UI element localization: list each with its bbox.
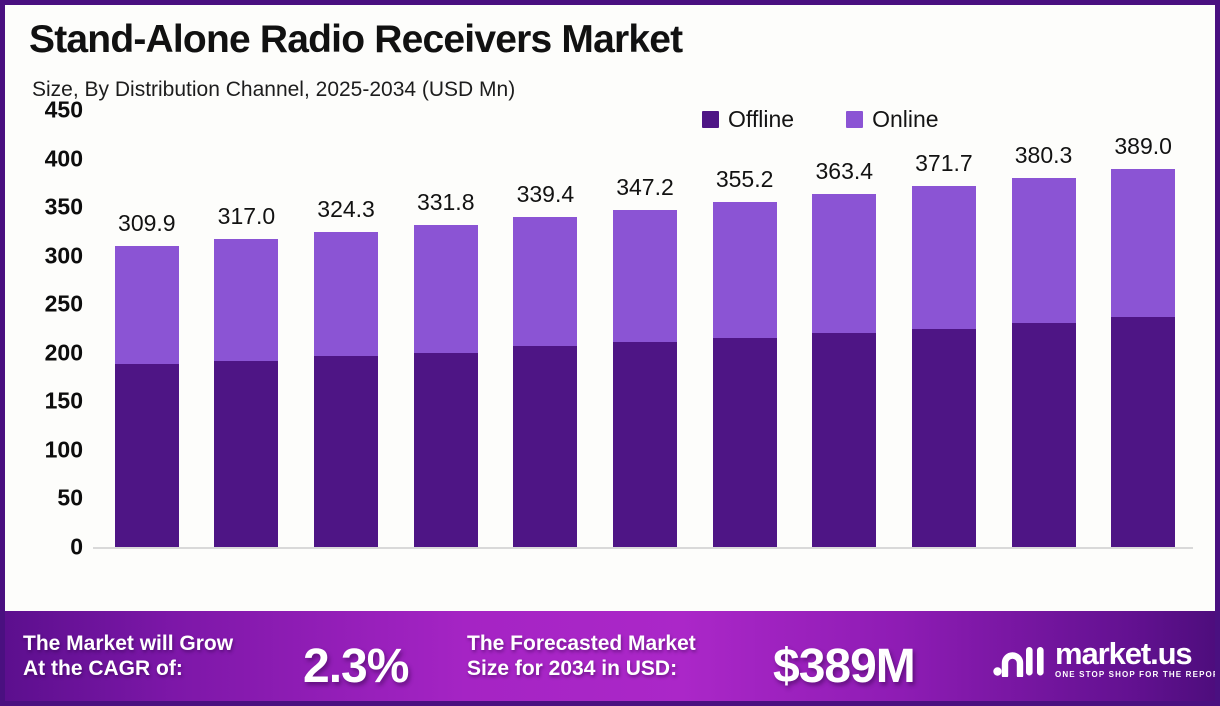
y-axis-tick: 50 — [57, 485, 83, 512]
bar-segment-offline[interactable] — [513, 346, 577, 547]
bar-segment-online[interactable] — [414, 225, 478, 353]
y-axis-tick: 350 — [45, 194, 83, 221]
chart-header: Stand-Alone Radio Receivers Market Size,… — [5, 5, 1215, 110]
bar-segment-offline[interactable] — [314, 356, 378, 547]
y-axis-tick: 150 — [45, 388, 83, 415]
bar-group[interactable]: 371.72032 — [912, 186, 976, 547]
logo-wordmark: market.us — [1055, 638, 1215, 669]
cagr-label: The Market will Grow At the CAGR of: — [23, 631, 233, 681]
y-axis-tick: 250 — [45, 291, 83, 318]
forecast-size-value: $389M — [773, 639, 915, 694]
y-axis-tick: 200 — [45, 339, 83, 366]
bar-segment-offline[interactable] — [812, 333, 876, 547]
bar-group[interactable]: 324.32026 — [314, 232, 378, 547]
forecast-size-label: The Forecasted Market Size for 2034 in U… — [467, 631, 696, 681]
bar-segment-online[interactable] — [812, 194, 876, 333]
y-axis-tick: 300 — [45, 242, 83, 269]
bar-total-label: 389.0 — [1114, 133, 1172, 160]
cagr-value: 2.3% — [303, 639, 408, 694]
y-axis-tick: 0 — [70, 534, 83, 561]
bar-segment-online[interactable] — [115, 246, 179, 364]
y-axis: 450400350300250200150100500 — [5, 110, 93, 570]
bar-segment-online[interactable] — [1111, 169, 1175, 317]
bar-group[interactable]: 389.02034 — [1111, 169, 1175, 547]
bar-total-label: 363.4 — [815, 158, 873, 185]
bar-group[interactable]: 317.02025 — [214, 239, 278, 547]
bar-segment-offline[interactable] — [414, 353, 478, 547]
bar-segment-offline[interactable] — [1012, 323, 1076, 547]
bar-total-label: 347.2 — [616, 174, 674, 201]
infographic-card: Stand-Alone Radio Receivers Market Size,… — [0, 0, 1220, 706]
bar-group[interactable]: 309.92024 — [115, 246, 179, 547]
bar-segment-online[interactable] — [912, 186, 976, 329]
bar-total-label: 324.3 — [317, 196, 375, 223]
bar-segment-offline[interactable] — [115, 364, 179, 547]
bar-total-label: 371.7 — [915, 150, 973, 177]
logo-tagline: ONE STOP SHOP FOR THE REPORTS — [1055, 669, 1215, 680]
bar-group[interactable]: 339.42028 — [513, 217, 577, 547]
bar-group[interactable]: 363.42031 — [812, 194, 876, 547]
y-axis-tick: 450 — [45, 97, 83, 124]
chart-subtitle: Size, By Distribution Channel, 2025-2034… — [32, 78, 515, 102]
bar-total-label: 309.9 — [118, 210, 176, 237]
bar-segment-online[interactable] — [1012, 178, 1076, 324]
bar-total-label: 331.8 — [417, 189, 475, 216]
bar-group[interactable]: 380.32033 — [1012, 178, 1076, 547]
chart-plot-area: 450400350300250200150100500 309.92024317… — [5, 110, 1215, 610]
bar-segment-online[interactable] — [513, 217, 577, 346]
bar-total-label: 380.3 — [1015, 142, 1073, 169]
y-axis-tick: 100 — [45, 436, 83, 463]
bar-group[interactable]: 347.22029 — [613, 210, 677, 547]
bar-segment-online[interactable] — [613, 210, 677, 342]
bar-segment-offline[interactable] — [713, 338, 777, 547]
bar-segment-online[interactable] — [314, 232, 378, 356]
bar-total-label: 317.0 — [218, 203, 276, 230]
signal-bars-icon — [993, 641, 1045, 677]
y-axis-tick: 400 — [45, 145, 83, 172]
bar-group[interactable]: 331.82027 — [414, 225, 478, 547]
bar-group[interactable]: 355.22030 — [713, 202, 777, 547]
bar-series-container: 309.92024317.02025324.32026331.82027339.… — [97, 110, 1193, 547]
market-us-logo[interactable]: market.us ONE STOP SHOP FOR THE REPORTS — [993, 638, 1215, 680]
bar-segment-offline[interactable] — [214, 361, 278, 547]
footer-banner: The Market will Grow At the CAGR of: 2.3… — [5, 611, 1215, 701]
bar-segment-offline[interactable] — [912, 329, 976, 547]
bar-total-label: 355.2 — [716, 166, 774, 193]
bar-segment-online[interactable] — [214, 239, 278, 360]
bar-total-label: 339.4 — [517, 181, 575, 208]
bar-segment-offline[interactable] — [1111, 317, 1175, 547]
bar-segment-offline[interactable] — [613, 342, 677, 547]
page-title: Stand-Alone Radio Receivers Market — [29, 18, 682, 62]
x-axis-baseline — [93, 547, 1193, 549]
bar-segment-online[interactable] — [713, 202, 777, 338]
